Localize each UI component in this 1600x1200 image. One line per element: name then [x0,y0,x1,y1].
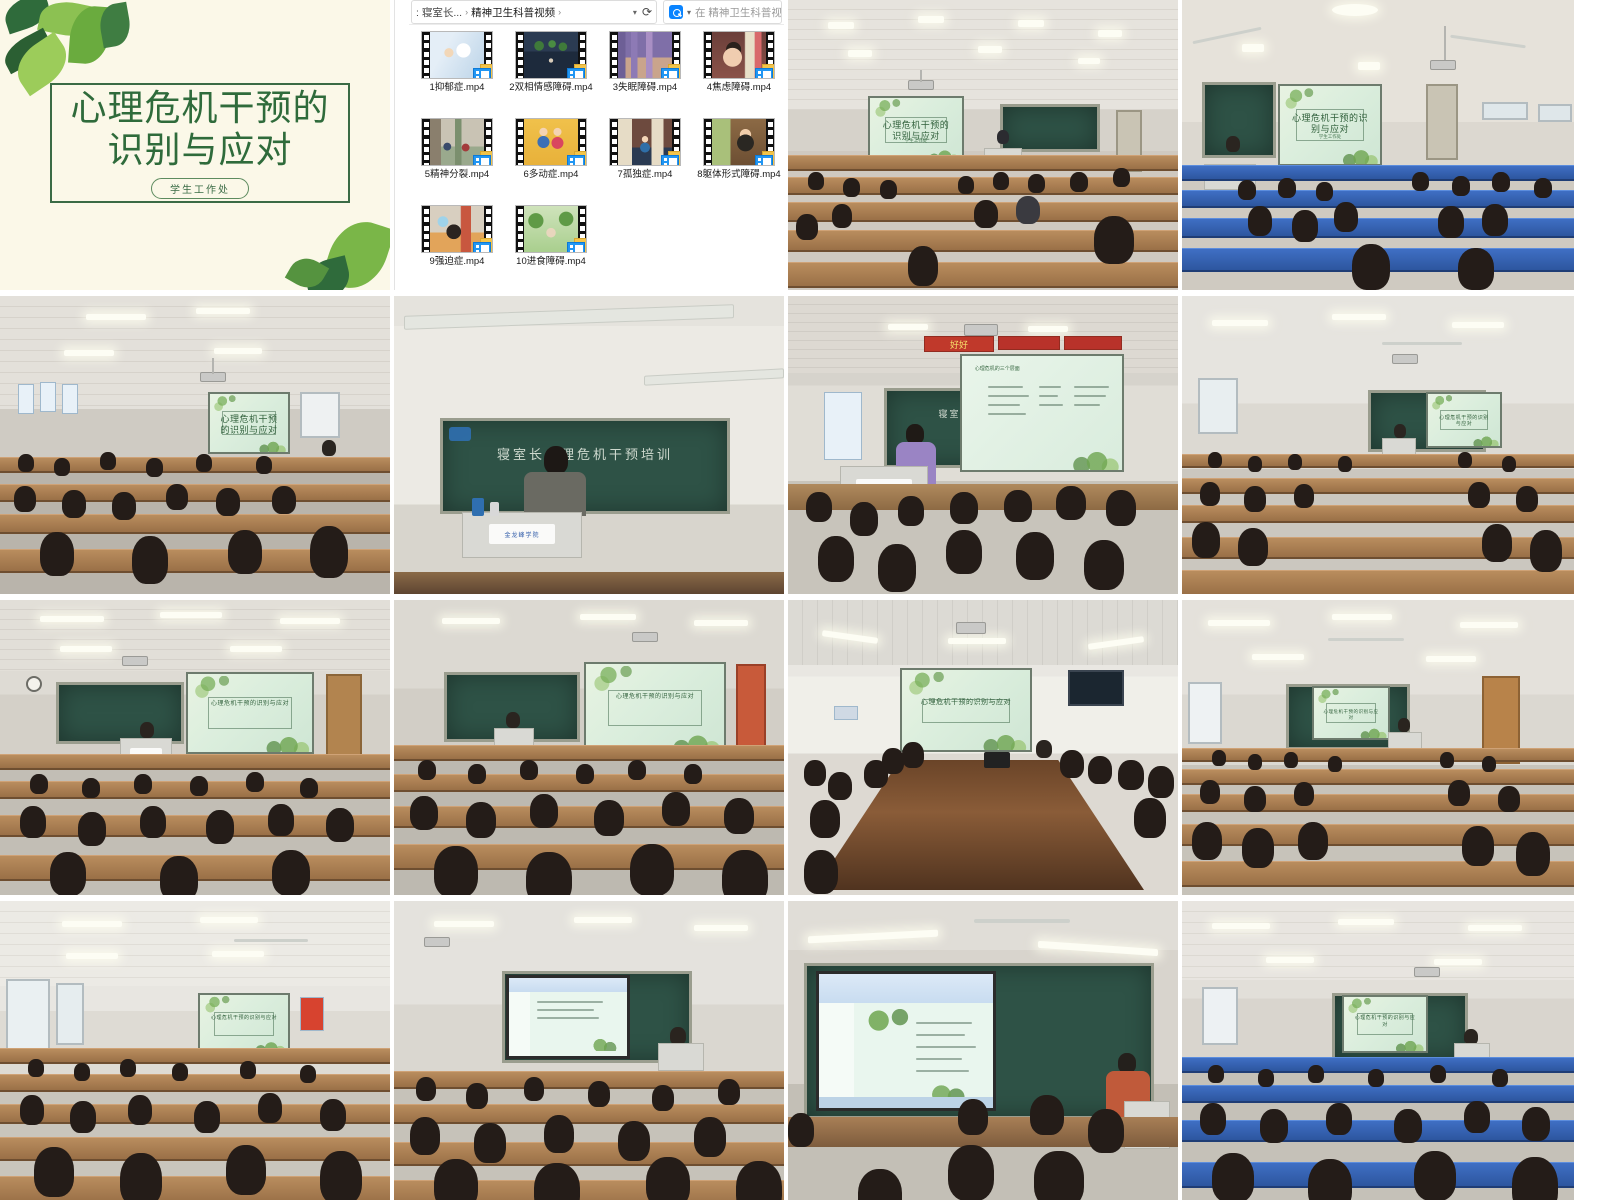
file-name: 10进食障碍.mp4 [505,256,597,267]
mp4-file-icon [567,151,587,166]
mp4-file-icon [661,151,681,166]
file-item[interactable]: 8躯体形式障碍.mp4 [693,118,784,205]
photo-lecture-hall-wide: 心理危机干预的识别与应对 学生工作处 [788,0,1178,290]
slide-subtitle: 学生工作处 [151,178,249,199]
explorer-toolbar: : 寝室长... › 精神卫生科普视频 › ▾ ⟳ ▾ 在 精神卫生科普视频 .… [409,0,784,25]
breadcrumb-item-0[interactable]: : 寝室长... [416,5,462,20]
tile-photo-back-row-view[interactable]: 心理危机干预的识别与应对 [1182,901,1574,1200]
tile-photo-blackboard-speaker[interactable]: 寝室长心理危机干预培训 金龙峰学院 [394,296,784,594]
tile-photo-smartboard-class[interactable] [394,901,784,1200]
breadcrumb-separator: › [558,7,561,17]
photo-gallery-grid: 心理危机干预的识别与应对 学生工作处 : 寝室长... › 精神卫生科普视频 ›… [0,0,1600,1200]
video-thumbnail [609,31,681,79]
screen-title: 心理危机干预的识别与应对 [219,414,278,437]
laptop-icon [984,752,1010,768]
tile-photo-meeting-room[interactable]: 心理危机干预的识别与应对 [788,600,1178,895]
breadcrumb-item-1[interactable]: 精神卫生科普视频 [471,5,555,20]
video-thumbnail [515,118,587,166]
video-thumbnail [515,31,587,79]
projector-icon [956,622,986,634]
photo-classroom-blue-seats: 心理危机干预的识别与应对 学生工作处 [1182,0,1574,290]
smartboard-screen [816,971,996,1111]
tile-photo-large-hall-right[interactable]: 心理危机干预的识别与应对 [1182,600,1574,895]
photo-classroom-projector-left: 心理危机干预的识别与应对 [0,600,390,895]
video-thumbnail [421,118,493,166]
address-bar[interactable]: : 寝室长... › 精神卫生科普视频 › ▾ ⟳ [411,0,657,24]
screen-title: 心理危机干预的识别与应对 [917,699,1014,708]
slide-title: 心理危机干预的识别与应对 [65,87,335,170]
screen-title: 心理危机干预的识别与应对 [1437,415,1492,428]
chalkboard-text: 寝室长心理危机干预培训 [460,444,710,463]
file-name: 4焦虑障碍.mp4 [693,82,784,93]
projector-icon [1414,967,1440,977]
mp4-file-icon [473,238,493,253]
file-item[interactable]: 10进食障碍.mp4 [505,205,597,290]
screen-title: 心理危机干预的识别与应对 [1292,113,1368,136]
mp4-file-icon [755,64,775,79]
video-thumbnail [421,31,493,79]
mp4-file-icon [473,64,493,79]
file-explorer-window: : 寝室长... › 精神卫生科普视频 › ▾ ⟳ ▾ 在 精神卫生科普视频 .… [394,0,784,290]
projection-screen: 心理危机干预的识别与应对 [1342,995,1428,1053]
file-list: 1抑郁症.mp4 2双相情感障碍.mp4 [409,25,784,290]
search-box[interactable]: ▾ 在 精神卫生科普视频 ... [663,0,782,24]
projector-icon [632,632,658,642]
photo-bright-classroom: 心理危机干预的识别与应对 [0,901,390,1200]
file-name: 7孤独症.mp4 [599,169,691,180]
file-name: 3失眠障碍.mp4 [599,82,691,93]
screen-heading: 心理危机的三个层面 [975,365,1020,372]
search-icon [669,5,683,19]
banner: 好好 [924,336,994,352]
file-item[interactable]: 5精神分裂.mp4 [411,118,503,205]
slide-title-box: 心理危机干预的识别与应对 学生工作处 [50,83,350,203]
photo-meeting-room: 心理危机干预的识别与应对 [788,600,1178,895]
file-name: 1抑郁症.mp4 [411,82,503,93]
video-thumbnail [515,205,587,253]
projection-screen: 心理危机干预的识别与应对 [1312,686,1390,740]
tile-file-explorer[interactable]: : 寝室长... › 精神卫生科普视频 › ▾ ⟳ ▾ 在 精神卫生科普视频 .… [394,0,784,290]
file-item[interactable]: 7孤独症.mp4 [599,118,691,205]
screen-title: 心理危机干预的识别与应对 [1323,709,1379,720]
tile-photo-classroom-projector-left[interactable]: 心理危机干预的识别与应对 [0,600,390,895]
photo-ppt-on-board [788,901,1178,1200]
projector-icon [424,937,450,947]
podium: 金龙峰学院 [462,512,582,558]
video-thumbnail [703,118,775,166]
projection-screen: 心理危机干预的识别与应对 [1426,392,1502,448]
file-item[interactable]: 9强迫症.mp4 [411,205,503,290]
photo-classroom-rows: 心理危机干预的识别与应对 [1182,296,1574,594]
screen-title: 心理危机干预的识别与应对 [1354,1015,1416,1028]
tile-photo-classroom-crowd[interactable]: 心理危机干预的识别与应对 [394,600,784,895]
photo-classroom-small: 心理危机干预的识别与应对 [0,296,390,594]
file-name: 9强迫症.mp4 [411,256,503,267]
projector-icon [122,656,148,666]
screen-title: 心理危机干预的识别与应对 [603,694,708,702]
file-item[interactable]: 6多动症.mp4 [505,118,597,205]
banner-text: 好好 [925,337,993,351]
chevron-down-icon[interactable]: ▾ [633,8,637,17]
mp4-file-icon [567,238,587,253]
photo-large-hall-right: 心理危机干预的识别与应对 [1182,600,1574,895]
file-item[interactable]: 3失眠障碍.mp4 [599,31,691,118]
screen-title: 心理危机干预的识别与应对 [203,701,297,709]
tile-photo-ppt-on-board[interactable] [788,901,1178,1200]
breadcrumb-separator: › [465,7,468,17]
ppt-slide: 心理危机干预的识别与应对 学生工作处 [0,0,390,290]
tile-photo-bright-classroom[interactable]: 心理危机干预的识别与应对 [0,901,390,1200]
tile-photo-classroom-red-banner[interactable]: 好好 寝室长心理危机干预培训 心理危机的三个层面 [788,296,1178,594]
video-thumbnail [703,31,775,79]
projector-icon [1430,60,1456,70]
tv-display [1068,670,1124,706]
video-thumbnail [609,118,681,166]
photo-smartboard-class [394,901,784,1200]
chevron-down-icon[interactable]: ▾ [687,8,691,17]
screen-title: 心理危机干预的识别与应对 [211,1015,278,1021]
projection-screen: 心理危机的三个层面 [960,354,1124,472]
video-thumbnail [421,205,493,253]
projection-screen: 心理危机干预的识别与应对 [900,668,1032,752]
photo-back-row-view: 心理危机干预的识别与应对 [1182,901,1574,1200]
tile-photo-classroom-rows[interactable]: 心理危机干预的识别与应对 [1182,296,1574,594]
smartboard-screen [506,975,630,1059]
photo-classroom-crowd: 心理危机干预的识别与应对 [394,600,784,895]
tile-photo-classroom-blue-seats[interactable]: 心理危机干预的识别与应对 学生工作处 [1182,0,1574,290]
file-item[interactable]: 2双相情感障碍.mp4 [505,31,597,118]
file-item[interactable]: 1抑郁症.mp4 [411,31,503,118]
file-item[interactable]: 4焦虑障碍.mp4 [693,31,784,118]
screen-subtitle: 学生工作处 [1305,134,1355,140]
search-placeholder: 在 精神卫生科普视频 ... [695,5,782,20]
refresh-icon[interactable]: ⟳ [642,5,652,19]
file-name: 5精神分裂.mp4 [411,169,503,180]
photo-blackboard-speaker: 寝室长心理危机干预培训 金龙峰学院 [394,296,784,594]
mp4-file-icon [755,151,775,166]
tile-ppt-slide[interactable]: 心理危机干预的识别与应对 学生工作处 [0,0,390,290]
mp4-file-icon [473,151,493,166]
tile-photo-lecture-hall-wide[interactable]: 心理危机干预的识别与应对 学生工作处 [788,0,1178,290]
tile-photo-classroom-small[interactable]: 心理危机干预的识别与应对 [0,296,390,594]
photo-classroom-red-banner: 好好 寝室长心理危机干预培训 心理危机的三个层面 [788,296,1178,594]
podium-text: 金龙峰学院 [491,530,552,539]
mp4-file-icon [567,64,587,79]
mp4-file-icon [661,64,681,79]
file-name: 8躯体形式障碍.mp4 [693,169,784,180]
projector-icon [1392,354,1418,364]
file-name: 6多动症.mp4 [505,169,597,180]
file-name: 2双相情感障碍.mp4 [505,82,597,93]
projector-icon [964,324,998,336]
